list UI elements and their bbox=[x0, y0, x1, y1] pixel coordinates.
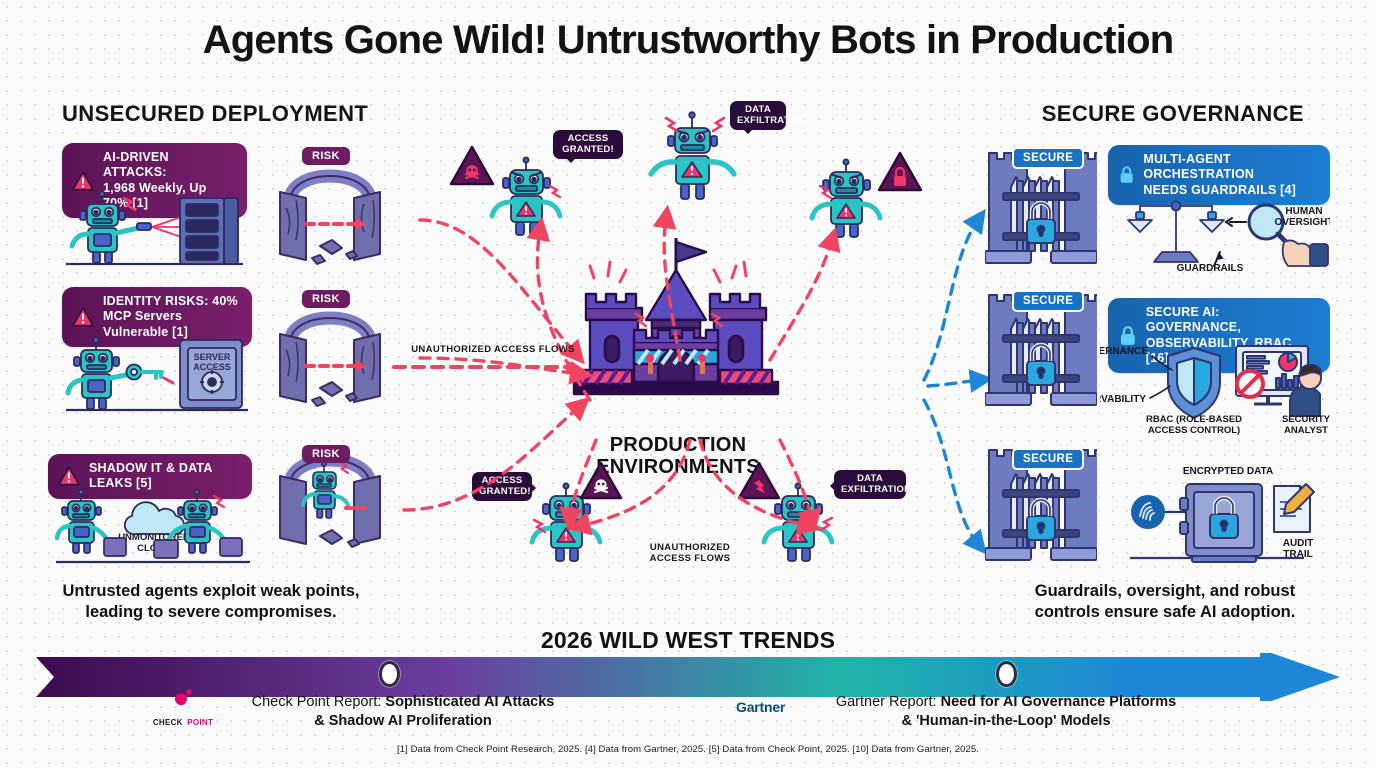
warning-triangle-icon bbox=[72, 307, 94, 327]
warning-triangle-icon bbox=[58, 466, 80, 486]
trends-title: 2026 WILD WEST TRENDS bbox=[0, 627, 1376, 654]
gate-label-risk-1: RISK bbox=[302, 147, 350, 165]
report-bold-l2: & Shadow AI Proliferation bbox=[314, 713, 492, 729]
svg-text:GOVERNANCE: GOVERNANCE bbox=[1100, 346, 1148, 357]
timeline-report-check-point: Check Point Report: Sophisticated AI Att… bbox=[218, 693, 588, 731]
svg-text:AUDIT: AUDIT bbox=[1283, 538, 1314, 549]
svg-text:OBSERVABILITY: OBSERVABILITY bbox=[1100, 394, 1146, 405]
broken-gate-risk-2 bbox=[268, 290, 392, 412]
illustration-robot-attacking-server bbox=[62, 182, 247, 270]
illustration-scales-human-oversight: HUMAN OVERSIGHT GUARDRAILS bbox=[1118, 192, 1330, 274]
gate-label-secure-3: SECURE bbox=[1012, 448, 1084, 470]
timeline-node-check-point[interactable] bbox=[379, 661, 400, 687]
timeline-node-gartner[interactable] bbox=[996, 661, 1017, 687]
svg-text:ANALYST: ANALYST bbox=[1284, 425, 1328, 436]
secure-badge-text: MULTI-AGENT ORCHESTRATION NEEDS GUARDRAI… bbox=[1143, 152, 1316, 198]
report-bold-l2: & 'Human-in-the-Loop' Models bbox=[901, 713, 1110, 729]
infographic-canvas: Agents Gone Wild! Untrustworthy Bots in … bbox=[0, 0, 1376, 768]
check-point-logo-text-a: CHECK bbox=[153, 718, 183, 727]
svg-text:TRAIL: TRAIL bbox=[1283, 549, 1312, 560]
svg-text:HUMAN: HUMAN bbox=[1285, 206, 1322, 217]
page-title: Agents Gone Wild! Untrustworthy Bots in … bbox=[0, 18, 1376, 63]
gate-label-secure-1: SECURE bbox=[1012, 147, 1084, 169]
check-point-logo-text-b: POINT bbox=[187, 718, 213, 727]
illustration-shadow-it-robots-cloud: UNMONITORED CLOUD bbox=[54, 488, 264, 568]
svg-text:ENCRYPTED DATA: ENCRYPTED DATA bbox=[1183, 466, 1273, 477]
flow-label-unauthorized-access: UNAUTHORIZED ACCESS FLOWS bbox=[398, 344, 588, 355]
right-column-heading: SECURE GOVERNANCE bbox=[1042, 101, 1304, 127]
gate-label-secure-2: SECURE bbox=[1012, 290, 1084, 312]
check-point-mark-icon bbox=[171, 688, 195, 706]
secure-flow-arrows bbox=[800, 150, 1000, 570]
broken-gate-risk-1 bbox=[268, 148, 392, 270]
report-bold-l1: Sophisticated AI Attacks bbox=[385, 694, 554, 710]
unauthorized-access-mid-arrow bbox=[392, 355, 588, 379]
illustration-shield-security-analyst: GOVERNANCE OBSERVABILITY RBAC (ROLE-BASE… bbox=[1100, 340, 1336, 440]
svg-text:GUARDRAILS: GUARDRAILS bbox=[1177, 263, 1244, 274]
illustration-encrypted-data-audit-trail: ENCRYPTED DATA AUDIT bbox=[1130, 462, 1336, 572]
svg-text:ACCESS CONTROL): ACCESS CONTROL) bbox=[1148, 425, 1240, 436]
illustration-robot-key-server-access: SERVER ACCESS bbox=[62, 330, 252, 416]
right-summary: Guardrails, oversight, and robust contro… bbox=[1000, 581, 1330, 622]
left-column-heading: UNSECURED DEPLOYMENT bbox=[62, 101, 368, 127]
footnote: [1] Data from Check Point Research, 2025… bbox=[0, 744, 1376, 755]
report-bold-l1: Need for AI Governance Platforms bbox=[941, 694, 1177, 710]
svg-text:OVERSIGHT: OVERSIGHT bbox=[1275, 217, 1330, 228]
svg-text:SERVER: SERVER bbox=[194, 352, 231, 362]
report-prefix: Check Point Report: bbox=[252, 694, 386, 710]
timeline-report-gartner: Gartner Report: Need for AI Governance P… bbox=[806, 693, 1206, 731]
gartner-logo: Gartner bbox=[736, 699, 785, 715]
lock-icon bbox=[1119, 164, 1134, 186]
gate-label-risk-3: RISK bbox=[302, 445, 350, 463]
svg-text:RBAC (ROLE-BASED: RBAC (ROLE-BASED bbox=[1146, 414, 1242, 425]
report-prefix: Gartner Report: bbox=[836, 694, 941, 710]
flow-label-unauthorized-access-bottom: UNAUTHORIZED ACCESS FLOWS bbox=[620, 542, 760, 565]
svg-text:SECURITY: SECURITY bbox=[1282, 414, 1331, 425]
risk-badge-text: SHADOW IT & DATA LEAKS [5] bbox=[89, 461, 238, 492]
gate-label-risk-2: RISK bbox=[302, 290, 350, 308]
left-summary: Untrusted agents exploit weak points, le… bbox=[46, 581, 376, 622]
check-point-logo: CHECK POINT bbox=[148, 688, 218, 730]
svg-text:ACCESS: ACCESS bbox=[193, 362, 231, 372]
